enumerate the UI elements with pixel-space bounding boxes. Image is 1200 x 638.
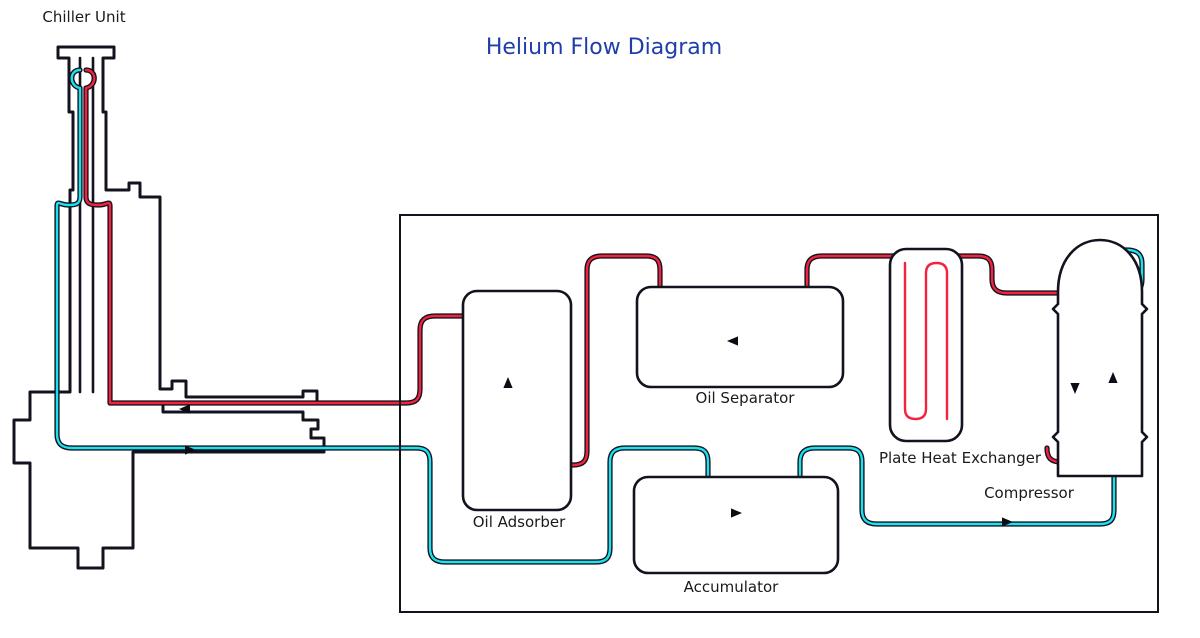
label-plate-heat-exchanger: Plate Heat Exchanger <box>879 449 1042 467</box>
label-oil-separator: Oil Separator <box>696 389 796 407</box>
page-title: Helium Flow Diagram <box>486 35 722 60</box>
diagram-canvas: Helium Flow Diagram <box>0 0 1200 638</box>
label-chiller-unit: Chiller Unit <box>42 8 125 26</box>
compressor-vessel[interactable] <box>1053 240 1147 476</box>
chiller-unit-assembly[interactable] <box>14 47 324 568</box>
oil-adsorber-vessel[interactable] <box>463 291 571 510</box>
label-accumulator: Accumulator <box>684 578 780 596</box>
oil-separator-vessel[interactable] <box>637 287 843 387</box>
lp-line-casing <box>57 70 1142 562</box>
lp-line-core <box>57 70 1142 562</box>
helium-flow-diagram-svg: Helium Flow Diagram <box>0 0 1200 638</box>
low-pressure-return-line[interactable] <box>57 70 1142 562</box>
chiller-unit-body <box>14 47 324 568</box>
label-compressor: Compressor <box>984 484 1075 502</box>
label-oil-adsorber: Oil Adsorber <box>473 513 566 531</box>
accumulator-vessel[interactable] <box>634 477 838 573</box>
